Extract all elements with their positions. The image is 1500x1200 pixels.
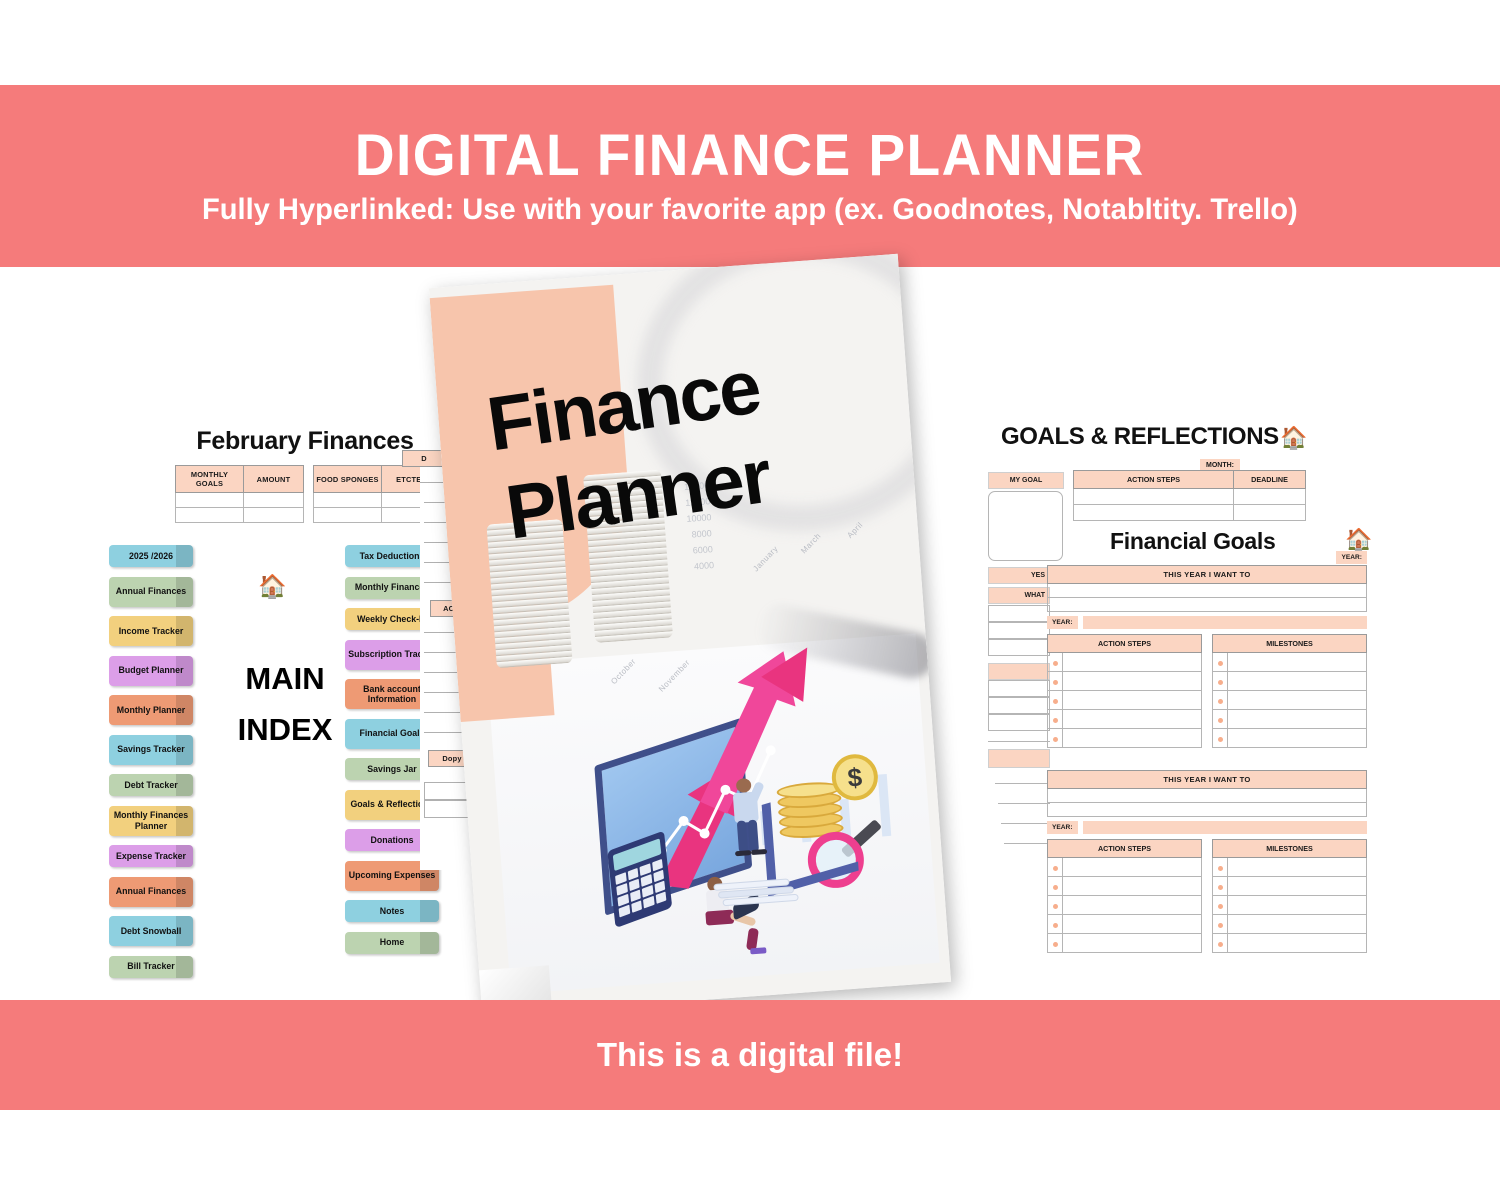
index-button-label: Upcoming Expenses (349, 870, 436, 880)
bullet-dot (1048, 710, 1063, 729)
main-index-label: MAIN INDEX (220, 653, 350, 755)
index-button-expense-tracker[interactable]: Expense Tracker (109, 845, 193, 867)
year-input[interactable] (1083, 821, 1367, 834)
chart-number: 4000 (694, 560, 715, 571)
partial-row[interactable] (988, 639, 1050, 656)
main-index-page: February Finances MONTHLY GOALS AMOUNT F… (95, 415, 475, 985)
index-button-label: Home (380, 937, 404, 947)
partial-tag-yes: YES (988, 567, 1050, 584)
year-input-row[interactable]: YEAR: (1047, 821, 1367, 834)
partial-row[interactable] (988, 697, 1050, 714)
col-header-food-sponges: FOOD SPONGES (314, 466, 382, 493)
table-cell[interactable] (1228, 653, 1367, 672)
col-header-milestones: MILESTONES (1213, 635, 1367, 653)
col-header-action-steps: ACTION STEPS (1048, 635, 1202, 653)
footer-text: This is a digital file! (597, 1036, 903, 1074)
partial-row[interactable] (988, 714, 1050, 731)
table-cell[interactable] (1228, 934, 1367, 953)
milestones-table: MILESTONES (1212, 839, 1367, 953)
bullet-dot (1213, 729, 1228, 748)
chart-number: 6000 (692, 544, 713, 555)
home-icon[interactable]: 🏠 (1280, 425, 1307, 451)
cover-photo: 14000 12000 10000 8000 6000 4000 January… (429, 254, 951, 1016)
year-label: YEAR: (1047, 821, 1078, 834)
table-cell[interactable] (1063, 672, 1202, 691)
table-cell[interactable] (1228, 858, 1367, 877)
table-cell[interactable] (1063, 915, 1202, 934)
table-cell[interactable] (1234, 489, 1306, 505)
index-button-label: Notes (380, 906, 404, 916)
partial-row[interactable] (988, 680, 1050, 697)
index-button-bill-tracker[interactable]: Bill Tracker (109, 956, 193, 978)
table-cell[interactable] (1048, 803, 1367, 817)
bullet-dot (1048, 858, 1063, 877)
partial-line (995, 783, 1050, 784)
header-banner: DIGITAL FINANCE PLANNER Fully Hyperlinke… (0, 85, 1500, 267)
bullet-dot (1213, 858, 1228, 877)
table-cell[interactable] (1228, 915, 1367, 934)
action-steps-table: ACTION STEPS (1047, 634, 1202, 748)
col-header-milestones: MILESTONES (1213, 840, 1367, 858)
table-cell[interactable] (244, 508, 304, 523)
partial-line (998, 803, 1050, 804)
index-button-label: Savings Tracker (117, 744, 184, 754)
index-button-savings-tracker[interactable]: Savings Tracker (109, 735, 193, 765)
index-button-annual-finances[interactable]: Annual Finances (109, 577, 193, 607)
index-button-label: Expense Tracker (116, 851, 186, 861)
table-cell[interactable] (176, 493, 244, 508)
home-icon[interactable]: 🏠 (1345, 527, 1372, 553)
table-cell[interactable] (1063, 691, 1202, 710)
bullet-dot (1213, 877, 1228, 896)
bullet-dot (1048, 691, 1063, 710)
cover-title: Finance Planner (483, 351, 777, 551)
index-button-2025-2026[interactable]: 2025 /2026 (109, 545, 193, 567)
table-cell[interactable] (176, 508, 244, 523)
bullet-dot (1213, 672, 1228, 691)
index-button-label: Donations (370, 835, 413, 845)
table-cell[interactable] (1228, 672, 1367, 691)
col-header-amount: AMOUNT (244, 466, 304, 493)
bullet-dot (1213, 915, 1228, 934)
index-button-label: Tax Deductions (360, 551, 425, 561)
table-cell[interactable] (1074, 489, 1234, 505)
monthly-goals-table: MONTHLY GOALS AMOUNT (175, 465, 304, 523)
bullet-dot (1048, 653, 1063, 672)
partial-row[interactable] (988, 605, 1050, 622)
table-cell[interactable] (1063, 710, 1202, 729)
table-cell[interactable] (1228, 691, 1367, 710)
bullet-dot (1048, 915, 1063, 934)
milestones-table: MILESTONES (1212, 634, 1367, 748)
col-header-action-steps: ACTION STEPS (1074, 471, 1234, 489)
col-header-this-year: THIS YEAR I WANT TO (1048, 566, 1367, 584)
table-cell[interactable] (1063, 934, 1202, 953)
this-year-i-want-to-table: THIS YEAR I WANT TO (1047, 770, 1367, 817)
bullet-dot (1048, 729, 1063, 748)
index-button-label: Debt Tracker (124, 780, 177, 790)
financial-goal-block: THIS YEAR I WANT TOYEAR:ACTION STEPSMILE… (1047, 565, 1367, 748)
financial-goals-title: Financial Goals (1110, 528, 1276, 555)
year-input-row[interactable]: YEAR: (1047, 616, 1367, 629)
bullet-dot (1213, 710, 1228, 729)
index-button-notes[interactable]: Notes (345, 900, 439, 922)
strip-label-top: D (402, 450, 446, 467)
page-subtitle: Fully Hyperlinked: Use with your favorit… (202, 193, 1298, 226)
partial-tag-block (988, 663, 1050, 680)
index-button-label: Weekly Check-In (357, 614, 427, 624)
table-cell[interactable] (1048, 584, 1367, 598)
table-cell[interactable] (1063, 877, 1202, 896)
index-button-label: Annual Finances (116, 586, 186, 596)
poster-canvas: DIGITAL FINANCE PLANNER Fully Hyperlinke… (0, 0, 1500, 1200)
index-button-label: Financial Goals (359, 728, 424, 738)
action-steps-table: ACTION STEPS (1047, 839, 1202, 953)
index-button-label: Savings Jar (367, 764, 416, 774)
index-button-label: Budget Planner (118, 665, 183, 675)
table-cell[interactable] (1048, 789, 1367, 803)
partial-line (1004, 843, 1050, 844)
my-goal-header: MY GOAL (988, 472, 1064, 489)
year-label: YEAR: (1336, 551, 1367, 564)
chart-month-label: March (799, 531, 823, 555)
index-button-label: Monthly Planner (117, 705, 185, 715)
table-cell[interactable] (314, 508, 382, 523)
index-button-debt-snowball[interactable]: Debt Snowball (109, 916, 193, 946)
table-cell[interactable] (1063, 858, 1202, 877)
table-cell[interactable] (1228, 710, 1367, 729)
table-cell[interactable] (244, 493, 304, 508)
table-cell[interactable] (1234, 505, 1306, 521)
action-milestones-row: ACTION STEPSMILESTONES (1047, 634, 1367, 748)
year-label: YEAR: (1047, 616, 1078, 629)
table-cell[interactable] (1228, 896, 1367, 915)
home-icon[interactable]: 🏠 (258, 573, 287, 600)
table-cell[interactable] (1228, 729, 1367, 748)
year-input[interactable] (1083, 616, 1367, 629)
bullet-dot (1048, 672, 1063, 691)
partial-row[interactable] (988, 622, 1050, 639)
partial-line (1001, 823, 1050, 824)
bullet-dot (1213, 653, 1228, 672)
action-milestones-row: ACTION STEPSMILESTONES (1047, 839, 1367, 953)
table-cell[interactable] (1063, 653, 1202, 672)
chart-number: 8000 (691, 528, 712, 539)
index-button-label: Monthly Finances (355, 582, 429, 592)
page-title: DIGITAL FINANCE PLANNER (355, 127, 1145, 185)
index-button-home[interactable]: Home (345, 932, 439, 954)
main-index-line-2: INDEX (220, 704, 350, 755)
footer-banner: This is a digital file! (0, 1000, 1500, 1110)
col-header-action-steps: ACTION STEPS (1048, 840, 1202, 858)
index-button-label: Monthly Finances Planner (111, 810, 191, 831)
goals-reflections-page: GOALS & REFLECTIONS 🏠 MONTH: MY GOAL ACT… (985, 415, 1385, 985)
index-button-label: Annual Finances (116, 886, 186, 896)
table-cell[interactable] (1048, 598, 1367, 612)
bullet-dot (1213, 896, 1228, 915)
bullet-dot (1213, 691, 1228, 710)
chart-month-label: January (751, 544, 780, 573)
financial-goals-blocks: YEAR:THIS YEAR I WANT TOYEAR:ACTION STEP… (1047, 565, 1367, 953)
index-button-income-tracker[interactable]: Income Tracker (109, 616, 193, 646)
partial-tag-what: WHAT (988, 587, 1050, 604)
goals-reflections-title: GOALS & REFLECTIONS (1001, 423, 1279, 451)
bullet-dot (1213, 934, 1228, 953)
col-header-deadline: DEADLINE (1234, 471, 1306, 489)
finance-illustration: $ (575, 616, 895, 927)
partial-tag-block (988, 749, 1050, 768)
partial-line (988, 741, 1050, 742)
index-button-monthly-finances-planner[interactable]: Monthly Finances Planner (109, 806, 193, 836)
action-steps-deadline-table: ACTION STEPS DEADLINE (1073, 470, 1306, 521)
bullet-dot (1048, 877, 1063, 896)
index-button-column-left: 2025 /2026Annual FinancesIncome TrackerB… (109, 545, 193, 978)
table-cell[interactable] (314, 493, 382, 508)
february-finances-tables: MONTHLY GOALS AMOUNT FOOD SPONGES ETCTED (175, 465, 442, 523)
this-year-i-want-to-table: THIS YEAR I WANT TO (1047, 565, 1367, 612)
main-index-line-1: MAIN (220, 653, 350, 704)
index-button-annual-finances[interactable]: Annual Finances (109, 877, 193, 907)
index-button-label: 2025 /2026 (129, 551, 173, 561)
index-button-debt-tracker[interactable]: Debt Tracker (109, 774, 193, 796)
bullet-dot (1048, 896, 1063, 915)
index-button-label: Income Tracker (119, 626, 184, 636)
index-button-label: Bill Tracker (127, 961, 174, 971)
index-button-budget-planner[interactable]: Budget Planner (109, 656, 193, 686)
financial-goal-block: THIS YEAR I WANT TOYEAR:ACTION STEPSMILE… (1047, 770, 1367, 953)
my-goal-input[interactable] (988, 491, 1063, 561)
bullet-dot (1048, 934, 1063, 953)
col-header-this-year: THIS YEAR I WANT TO (1048, 771, 1367, 789)
table-cell[interactable] (1063, 729, 1202, 748)
col-header-monthly-goals: MONTHLY GOALS (176, 466, 244, 493)
index-button-monthly-planner[interactable]: Monthly Planner (109, 695, 193, 725)
index-button-label: Debt Snowball (121, 926, 182, 936)
table-cell[interactable] (1063, 896, 1202, 915)
table-cell[interactable] (1228, 877, 1367, 896)
planner-cover[interactable]: 14000 12000 10000 8000 6000 4000 January… (429, 254, 951, 1016)
table-cell[interactable] (1074, 505, 1234, 521)
